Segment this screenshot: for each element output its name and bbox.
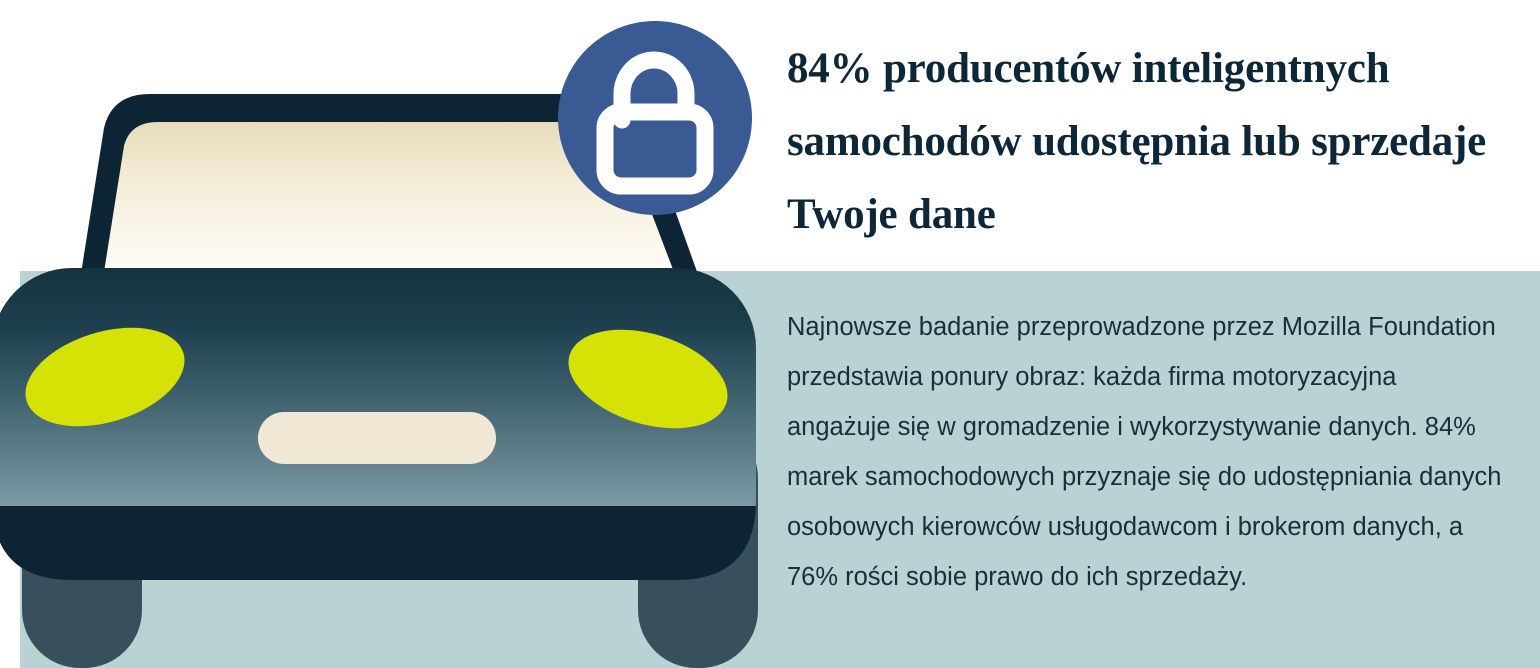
text-column: 84% producentów inteligentnych samochodó… [787,0,1540,668]
body-paragraph: Najnowsze badanie przeprowadzone przez M… [787,302,1507,602]
open-padlock-badge [558,21,752,215]
car-illustration [0,0,790,668]
infographic-card: 84% producentów inteligentnych samochodó… [0,0,1540,668]
license-plate [258,412,496,464]
headline: 84% producentów inteligentnych samochodó… [787,32,1527,251]
car-bumper [0,500,756,580]
